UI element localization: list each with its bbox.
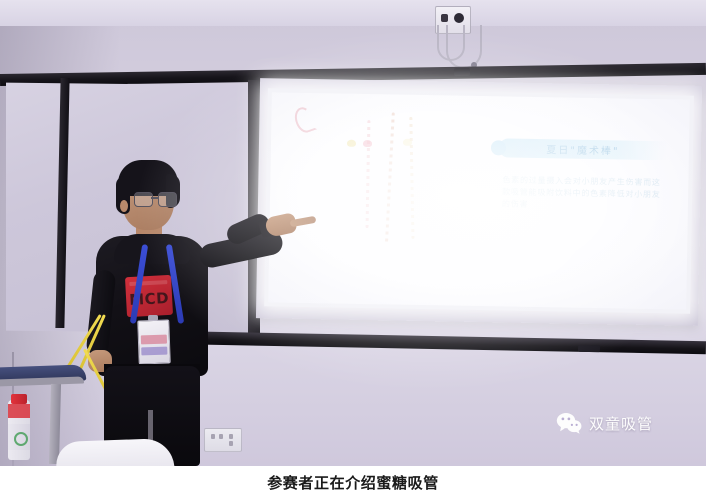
socket-hole [229,434,233,439]
presentation-photo: 夏日"魔术棒" 色素的过量摄入会对小朋友产生伤害而这款吸管能吸附饮料中的色素降低… [0,0,706,466]
glasses-icon [134,192,178,205]
glasses-lens [134,192,153,207]
badge-strip [141,335,167,345]
badge-strip [141,347,167,356]
presenter: MCD [60,160,300,466]
id-badge [137,319,171,364]
slide-surface: 夏日"魔术棒" 色素的过量摄入会对小朋友产生伤害而这款吸管能吸附饮料中的色素降低… [268,92,690,309]
slide-straw-illustration [385,112,395,242]
hoodie-hood [114,234,190,264]
slide-straw-top [363,140,372,147]
cable-port-icon [441,14,448,22]
hanging-cable [446,25,482,69]
watermark-text: 双童吸管 [589,413,653,434]
glasses-bridge [151,197,158,199]
slide-straw-illustration [366,120,371,228]
slide-title-banner: 夏日"魔术棒" [499,138,667,160]
bottle-wrapper [8,404,30,418]
bottle-logo-icon [14,432,28,446]
photo-caption: 参赛者正在介绍蜜糖吸管 [267,472,439,493]
socket-hole [219,434,223,439]
socket-hole [211,434,215,439]
slide-straw-top [403,139,412,146]
slide-straw-top [347,140,356,147]
caption-bar: 参赛者正在介绍蜜糖吸管 [0,466,706,499]
glasses-lens [158,192,177,207]
slide-title-text: 夏日"魔术棒" [546,141,619,157]
slide-straw-illustration [409,117,414,239]
wall-socket [204,428,242,452]
socket-hole [229,441,233,446]
rail-bracket [578,345,600,352]
white-chair [56,438,175,466]
projection-screen: 夏日"魔术棒" 色素的过量摄入会对小朋友产生伤害而这款吸管能吸附饮料中的色素降低… [256,78,702,326]
slide-body-text: 色素的过量摄入会对小朋友产生伤害而这款吸管能吸附饮料中的色素降低对小朋友的伤害 [502,174,668,213]
slide-decoration-swirl [292,105,317,135]
bottle-cap [11,394,27,404]
screen-frame: 夏日"魔术棒" 色素的过量摄入会对小朋友产生伤害而这款吸管能吸附饮料中的色素降低… [264,88,694,313]
presenter-ear [120,200,128,212]
rail-bracket [454,68,470,76]
watermark: 双童吸管 [556,412,653,434]
ceiling-strip [0,0,706,26]
cable-port-icon [454,13,464,23]
wechat-icon [556,412,582,434]
screenshot-root: 夏日"魔术棒" 色素的过量摄入会对小朋友产生伤害而这款吸管能吸附饮料中的色素降低… [0,0,706,499]
